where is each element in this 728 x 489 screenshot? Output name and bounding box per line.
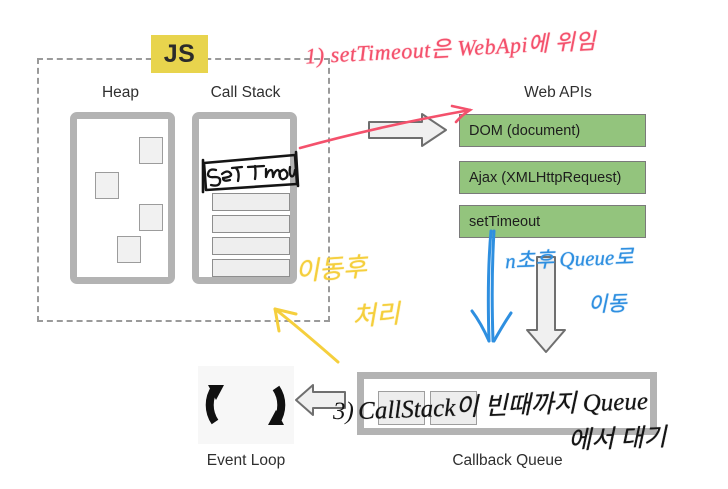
js-logo: JS [151, 35, 208, 73]
web-apis-label: Web APIs [483, 84, 633, 102]
call-stack-label: Call Stack [188, 84, 303, 102]
event-loop-icon-box [198, 366, 294, 444]
heap-object [95, 172, 119, 199]
web-api-row-ajax[interactable]: Ajax (XMLHttpRequest) [459, 161, 646, 194]
arrow-stack-to-webapi [369, 114, 446, 146]
heap-object [139, 137, 163, 164]
diagram-canvas: JS Heap Call Stack Web APIs [0, 0, 728, 489]
annotation-2-line2: 이동 [587, 287, 627, 318]
annotation-3-line2: 에서 대기 [567, 417, 666, 456]
web-api-row-settimeout[interactable]: setTimeout [459, 205, 646, 238]
call-stack-container [192, 112, 297, 284]
event-loop-label: Event Loop [196, 452, 296, 470]
annotation-3-step: 3) [333, 398, 354, 426]
annotation-1-line1: 1) setTimeout은 WebApi에 위임 [304, 23, 597, 70]
heap-label: Heap [63, 84, 178, 102]
annotation-4-line1: 이동후 [294, 247, 368, 289]
heap-object [139, 204, 163, 231]
heap-object [117, 236, 141, 263]
call-stack-frame [212, 193, 290, 211]
web-api-row-dom[interactable]: DOM (document) [459, 114, 646, 147]
callback-queue-label: Callback Queue [430, 452, 585, 470]
call-stack-frame [212, 215, 290, 233]
annotation-4-line2: 처리 [351, 293, 401, 333]
call-stack-frame [212, 237, 290, 255]
annotation-2-line1: n초후 Queue로 [505, 241, 634, 275]
heap-container [70, 112, 175, 284]
call-stack-frame [212, 259, 290, 277]
